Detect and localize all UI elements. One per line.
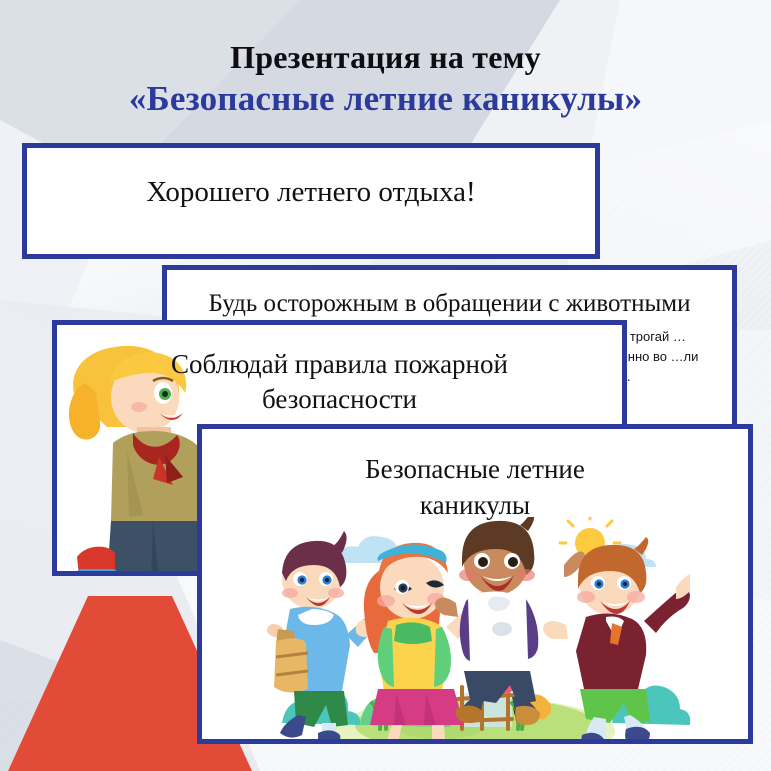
slide-card-4[interactable]: Безопасные летние каникулы <box>197 424 753 744</box>
page-title: Презентация на тему «Безопасные летние к… <box>0 0 771 119</box>
slide-card-3-title: Соблюдай правила пожарной безопасности <box>57 347 622 417</box>
slide-card-2-title: Будь осторожным в обращении с животными <box>167 288 732 321</box>
four-jumping-children-illustration <box>260 517 690 739</box>
title-line-secondary: «Безопасные летние каникулы» <box>0 78 771 119</box>
slide-card-1-title: Хорошего летнего отдыха! <box>27 175 595 210</box>
title-line-primary: Презентация на тему <box>0 41 771 75</box>
presentation-cover-canvas: Презентация на тему «Безопасные летние к… <box>0 0 771 771</box>
slide-card-4-title: Безопасные летние каникулы <box>202 451 748 524</box>
slide-card-1[interactable]: Хорошего летнего отдыха! <box>22 143 600 259</box>
